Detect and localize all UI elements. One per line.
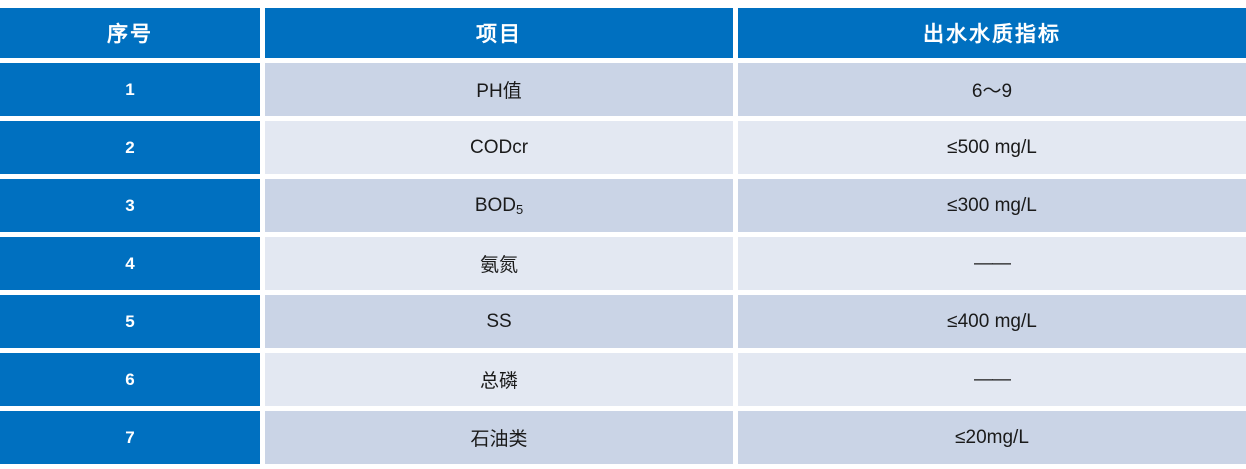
table-row: 7 石油类 ≤20mg/L (0, 411, 1246, 469)
cell-spec: ≤300 mg/L (738, 179, 1246, 237)
cell-item-subscript: 5 (516, 202, 523, 217)
cell-spec: ≤500 mg/L (738, 121, 1246, 179)
column-header-spec: 出水水质指标 (738, 8, 1246, 63)
table-row: 2 CODcr ≤500 mg/L (0, 121, 1246, 179)
cell-spec: —— (738, 237, 1246, 295)
table-body: 1 PH值 6～9 2 CODcr ≤500 mg/L 3 BOD5 ≤300 … (0, 63, 1246, 469)
cell-item: 石油类 (265, 411, 738, 469)
table-header: 序号 项目 出水水质指标 (0, 8, 1246, 63)
cell-index: 1 (0, 63, 265, 121)
cell-item-text: 氨氮 (480, 255, 518, 276)
cell-index: 5 (0, 295, 265, 353)
table-row: 6 总磷 —— (0, 353, 1246, 411)
table-header-row: 序号 项目 出水水质指标 (0, 8, 1246, 63)
cell-item-text: PH值 (476, 81, 521, 102)
cell-spec: —— (738, 353, 1246, 411)
cell-index: 7 (0, 411, 265, 469)
cell-item-text: BOD (475, 195, 516, 216)
cell-index: 4 (0, 237, 265, 295)
cell-item: 氨氮 (265, 237, 738, 295)
cell-spec: ≤20mg/L (738, 411, 1246, 469)
cell-index: 3 (0, 179, 265, 237)
cell-item: 总磷 (265, 353, 738, 411)
table-row: 3 BOD5 ≤300 mg/L (0, 179, 1246, 237)
cell-item-text: 石油类 (470, 429, 527, 450)
column-header-item: 项目 (265, 8, 738, 63)
cell-spec: 6～9 (738, 63, 1246, 121)
cell-item: SS (265, 295, 738, 353)
cell-item: CODcr (265, 121, 738, 179)
cell-index: 2 (0, 121, 265, 179)
table-row: 1 PH值 6～9 (0, 63, 1246, 121)
cell-item-text: SS (486, 311, 511, 332)
cell-item-text: CODcr (470, 137, 528, 158)
cell-index: 6 (0, 353, 265, 411)
water-quality-table: 序号 项目 出水水质指标 1 PH值 6～9 2 CODcr ≤500 mg/L… (0, 8, 1246, 469)
column-header-index: 序号 (0, 8, 265, 63)
cell-spec: ≤400 mg/L (738, 295, 1246, 353)
cell-item: PH值 (265, 63, 738, 121)
table-row: 4 氨氮 —— (0, 237, 1246, 295)
cell-item: BOD5 (265, 179, 738, 237)
cell-item-text: 总磷 (480, 371, 518, 392)
table-row: 5 SS ≤400 mg/L (0, 295, 1246, 353)
